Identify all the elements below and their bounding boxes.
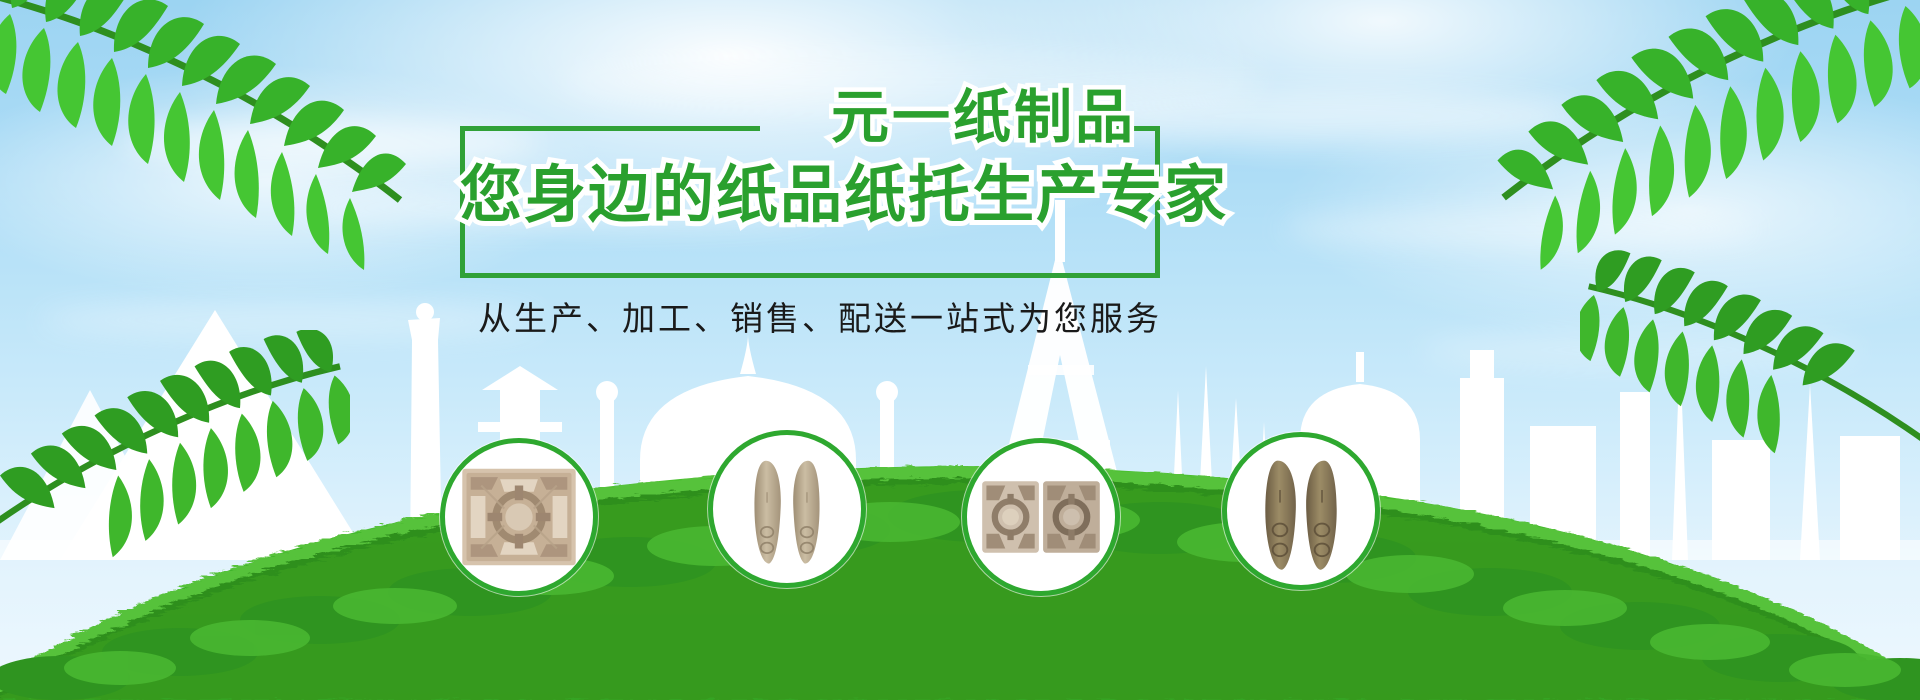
product-circle-group (0, 0, 1920, 700)
square-pulp-tray-icon (456, 454, 582, 580)
promo-banner: 元一纸制品 您身边的纸品纸托生产专家 从生产、加工、销售、配送一站式为您服务 (0, 0, 1920, 700)
double-pulp-tray-icon (978, 454, 1104, 580)
shoe-tree-pair-light-icon (724, 446, 850, 572)
shoe-tree-pair-dark-icon (1238, 448, 1364, 574)
product-circle-double-pulp-tray[interactable] (962, 438, 1120, 596)
product-circle-shoe-tree-pair-dark[interactable] (1222, 432, 1380, 590)
product-circle-shoe-tree-pair-light[interactable] (708, 430, 866, 588)
product-circle-square-pulp-tray[interactable] (440, 438, 598, 596)
